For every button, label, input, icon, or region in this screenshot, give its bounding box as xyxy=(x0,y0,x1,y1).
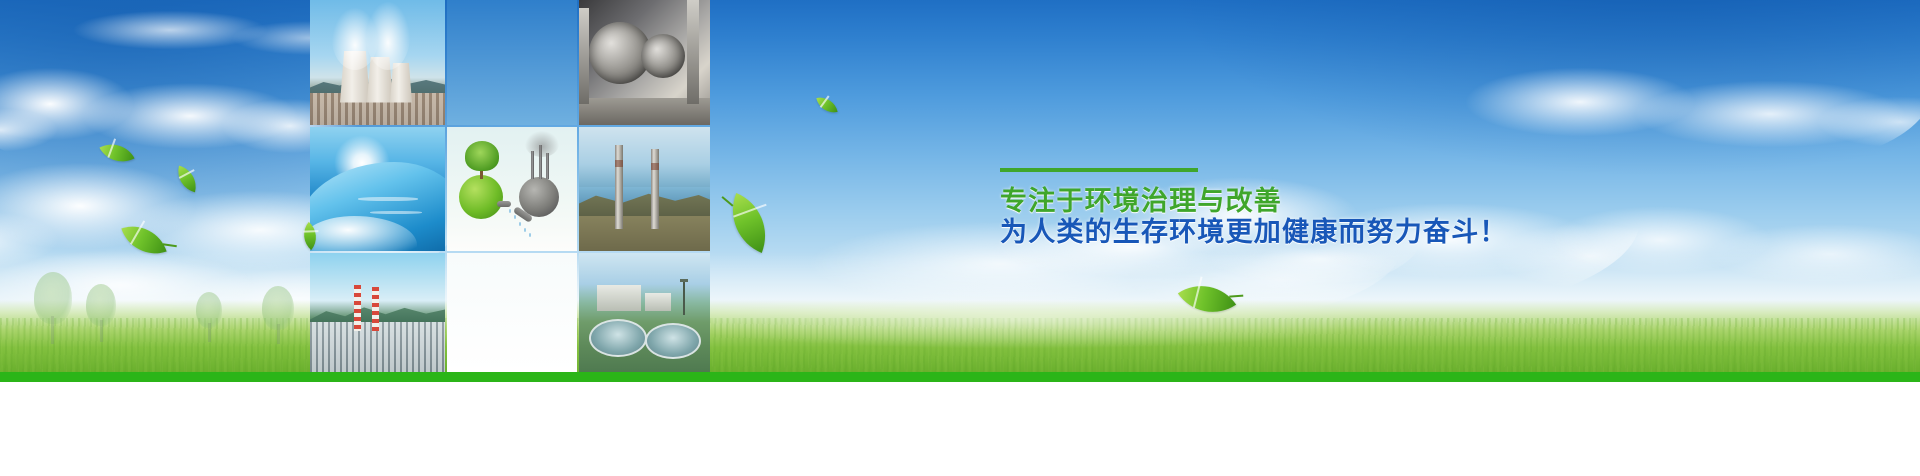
steam-plume-right xyxy=(366,2,410,70)
clarifier-basin-left xyxy=(589,319,647,357)
leaf-vein xyxy=(304,230,319,232)
tagline-rule xyxy=(1000,168,1198,172)
smokestack-left xyxy=(615,145,623,229)
treatment-building xyxy=(597,285,641,311)
striped-stack-right xyxy=(372,287,379,331)
treatment-annex xyxy=(645,293,671,311)
tile-empty-white-bottom-center xyxy=(447,253,577,372)
bottom-green-bar xyxy=(0,372,1920,382)
tagline-line-1: 专注于环境治理与改善 xyxy=(1000,186,1420,217)
pollution-stack-c xyxy=(546,153,549,179)
clarifier-basin-right xyxy=(645,323,701,359)
tile-coastal-smokestacks[interactable] xyxy=(579,127,710,251)
tile-green-vs-polluted-globe[interactable] xyxy=(447,127,577,251)
machine-pipe-right xyxy=(687,0,699,104)
tree-left-third xyxy=(196,292,222,342)
tree-far-left xyxy=(34,272,72,344)
tile-empty-sky-top-center xyxy=(447,0,577,125)
page-body-below-banner xyxy=(0,382,1920,476)
water-droplets xyxy=(507,207,541,237)
tree-trunk xyxy=(208,323,211,342)
tile-water-treatment[interactable] xyxy=(579,253,710,372)
machine-drum-small xyxy=(641,34,685,78)
tile-cooling-towers[interactable] xyxy=(310,0,445,125)
hero-banner: 专注于环境治理与改善 为人类的生存环境更加健康而努力奋斗！ xyxy=(0,0,1920,476)
leaf-small-center xyxy=(816,94,837,115)
wave-streak-a xyxy=(358,197,418,201)
wave-streak-b xyxy=(370,211,422,214)
green-globe xyxy=(459,175,503,219)
tile-chemical-plant[interactable] xyxy=(310,253,445,372)
light-mast xyxy=(683,279,685,315)
tagline-block: 专注于环境治理与改善 为人类的生存环境更加健康而努力奋斗！ xyxy=(1000,168,1420,248)
tagline-line-2: 为人类的生存环境更加健康而努力奋斗！ xyxy=(1000,217,1420,248)
tree-trunk xyxy=(277,324,280,344)
tree-left-fourth xyxy=(262,286,294,344)
smokestack-right xyxy=(651,149,659,229)
tile-industrial-machinery[interactable] xyxy=(579,0,710,125)
tile-ocean-wave[interactable] xyxy=(310,127,445,251)
pollution-smoke xyxy=(525,131,559,157)
striped-stack-left xyxy=(354,285,361,331)
industry-photo-grid xyxy=(310,0,710,372)
machine-pipe-left xyxy=(579,8,589,104)
tree-left-second xyxy=(86,284,116,342)
globe-tree-canopy xyxy=(465,141,499,171)
tree-trunk xyxy=(51,316,54,344)
tree-trunk xyxy=(100,320,103,342)
